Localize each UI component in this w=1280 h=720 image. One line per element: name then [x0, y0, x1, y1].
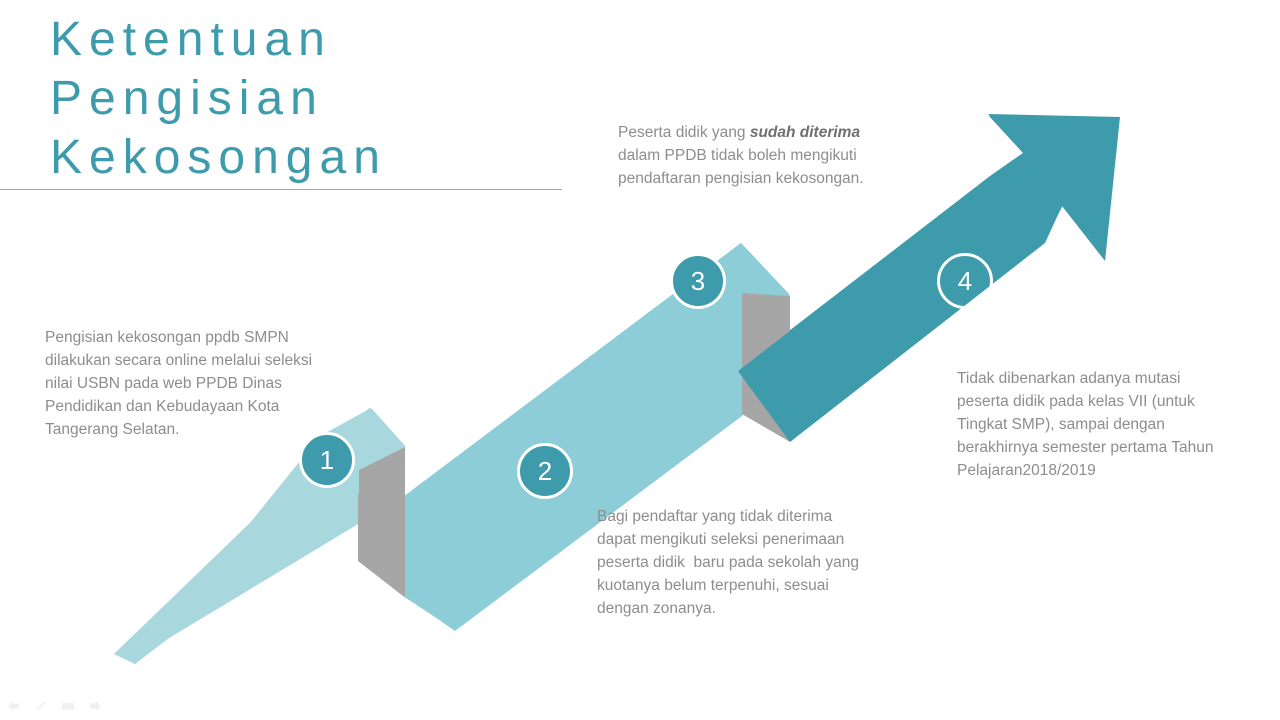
previous-slide-icon[interactable] [6, 698, 22, 714]
pen-icon[interactable] [33, 698, 49, 714]
step-description-3-emphasis: sudah diterima [750, 124, 860, 141]
step-description-4-line-5: Pelajaran2018/2019 [957, 459, 1232, 482]
step-description-4: Tidak dibenarkan adanya mutasi peserta d… [957, 367, 1232, 482]
title-line-2: Pengisian [0, 69, 565, 128]
next-slide-icon[interactable] [87, 698, 103, 714]
step-description-1-line-2: dilakukan secara online melalui seleksi [45, 349, 330, 372]
step-description-1-line-1: Pengisian kekosongan ppdb SMPN [45, 326, 330, 349]
step-marker-4[interactable]: 4 [937, 253, 993, 309]
presentation-slide: Ketentuan Pengisian Kekosongan 1 2 3 4 P… [0, 0, 1280, 720]
step-description-4-line-1: Tidak dibenarkan adanya mutasi [957, 367, 1232, 390]
step-description-3-prefix: Peserta didik yang [618, 124, 750, 141]
step-number-2: 2 [538, 458, 552, 484]
step-description-4-line-3: Tingkat SMP), sampai dengan [957, 413, 1232, 436]
slide-menu-icon[interactable] [60, 698, 76, 714]
slide-title: Ketentuan Pengisian Kekosongan [0, 10, 565, 187]
step-marker-3[interactable]: 3 [670, 253, 726, 309]
step-description-2-line-4: kuotanya belum terpenuhi, sesuai [597, 574, 872, 597]
step-description-1-line-3: nilai USBN pada web PPDB Dinas [45, 372, 330, 395]
title-underline [0, 189, 562, 190]
step-description-2-line-2: dapat mengikuti seleksi penerimaan [597, 528, 872, 551]
title-line-1: Ketentuan [0, 10, 565, 69]
step-description-3-suffix: dalam PPDB tidak boleh mengikuti pendaft… [618, 147, 864, 187]
step-description-1-line-5: Tangerang Selatan. [45, 418, 330, 441]
riser-shadow-1 [359, 447, 405, 597]
title-line-3: Kekosongan [0, 128, 565, 187]
step-description-2-line-3: peserta didik baru pada sekolah yang [597, 551, 872, 574]
step-marker-2[interactable]: 2 [517, 443, 573, 499]
slideshow-toolbar[interactable] [6, 698, 103, 714]
step-description-1: Pengisian kekosongan ppdb SMPN dilakukan… [45, 326, 330, 441]
step-description-2: Bagi pendaftar yang tidak diterima dapat… [597, 505, 872, 620]
step-description-1-line-4: Pendidikan dan Kebudayaan Kota [45, 395, 330, 418]
step-number-4: 4 [958, 268, 972, 294]
step-description-4-line-4: berakhirnya semester pertama Tahun [957, 436, 1232, 459]
step-number-3: 3 [691, 268, 705, 294]
step-description-3: Peserta didik yang sudah diterima dalam … [618, 121, 876, 190]
step-description-2-line-1: Bagi pendaftar yang tidak diterima [597, 505, 872, 528]
step-description-4-line-2: peserta didik pada kelas VII (untuk [957, 390, 1232, 413]
step-number-1: 1 [320, 447, 334, 473]
step-description-2-line-5: dengan zonanya. [597, 597, 872, 620]
